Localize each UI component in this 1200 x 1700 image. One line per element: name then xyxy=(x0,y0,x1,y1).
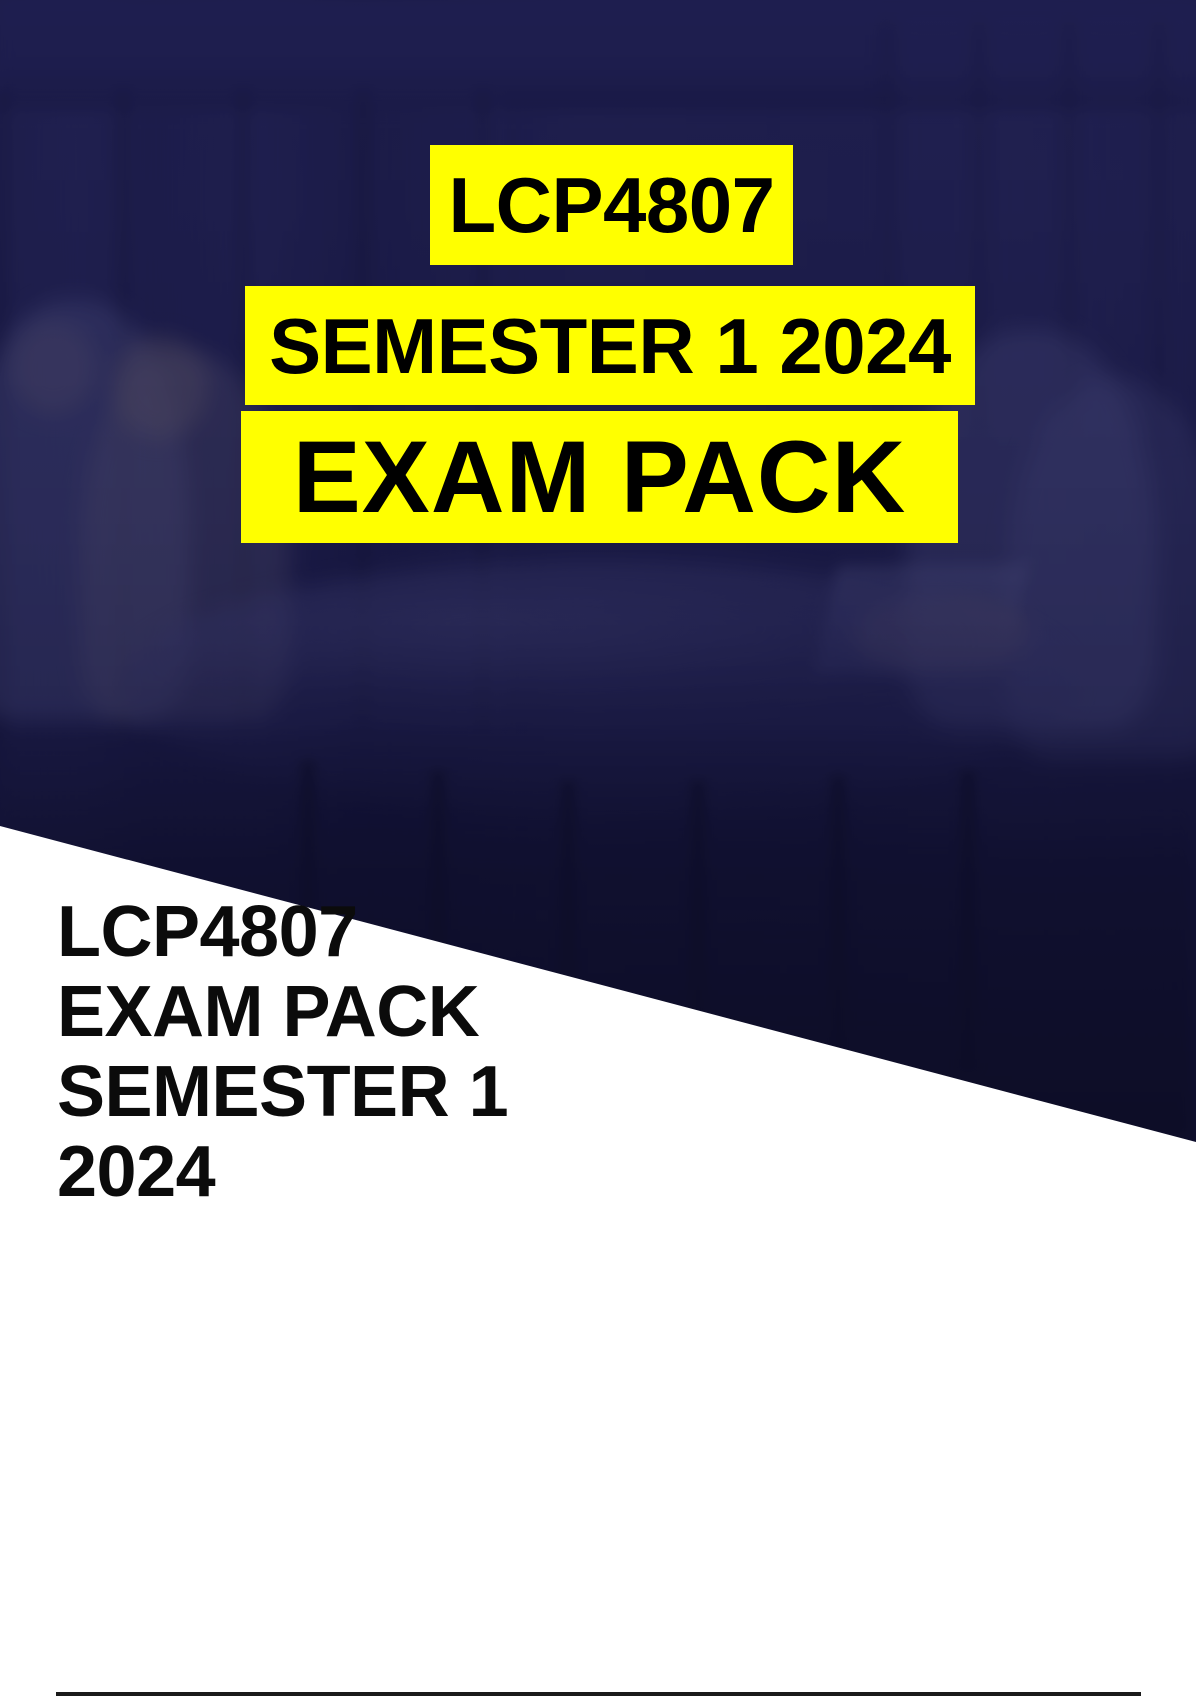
document-title-line-3: SEMESTER 1 xyxy=(57,1053,757,1133)
document-title-line-4: 2024 xyxy=(57,1133,757,1213)
document-title-line-1: LCP4807 xyxy=(57,893,757,973)
hero-title-semester: SEMESTER 1 2024 xyxy=(245,286,975,405)
document-title-line-2: EXAM PACK xyxy=(57,973,757,1053)
exam-pack-cover-page: LCP4807 SEMESTER 1 2024 EXAM PACK LCP480… xyxy=(0,0,1200,1700)
footer-divider xyxy=(56,1692,1141,1696)
document-title-block: LCP4807 EXAM PACK SEMESTER 1 2024 xyxy=(57,893,757,1213)
hero-title-exam-pack: EXAM PACK xyxy=(241,411,958,543)
hero-title-course-code: LCP4807 xyxy=(430,145,793,265)
